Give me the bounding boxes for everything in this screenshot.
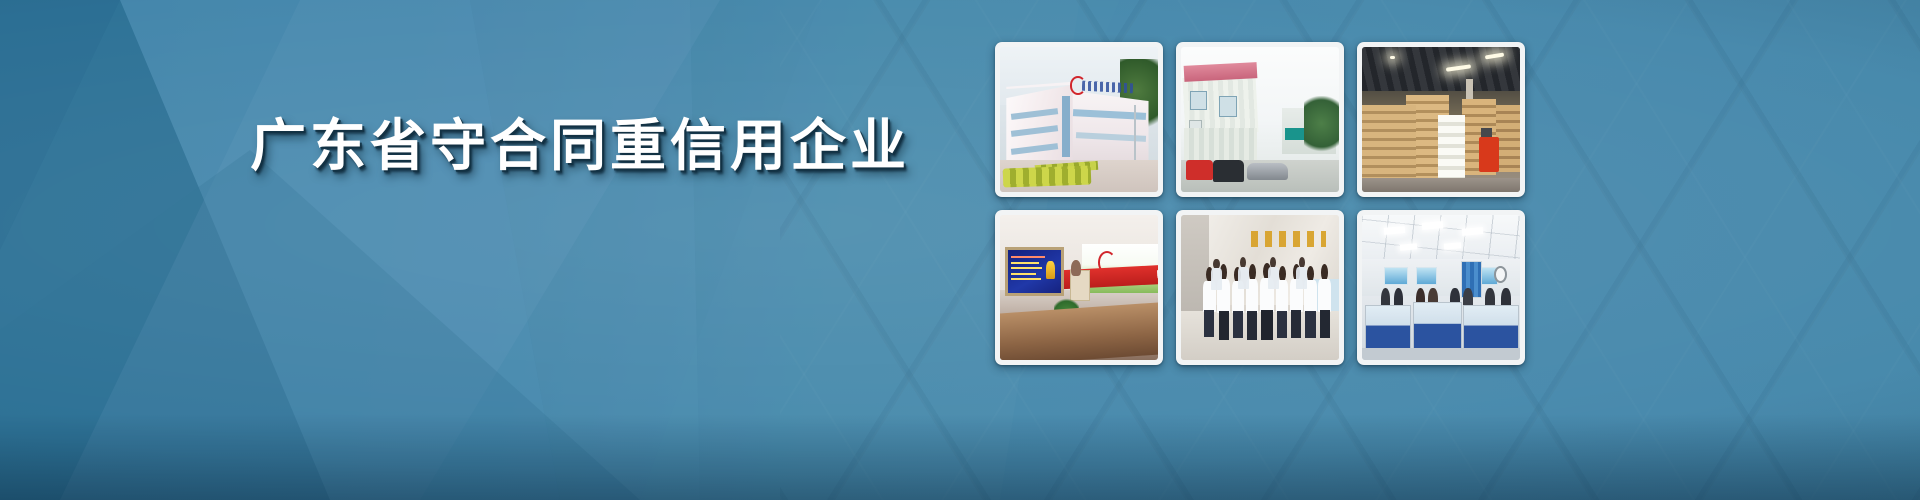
lobby-sign-characters [1251,231,1327,247]
wall-clock-icon [1494,266,1507,283]
background-reflection-strip [0,414,1920,500]
photo-team-group-image [1181,215,1339,360]
photo-office-workspace[interactable] [1357,210,1525,365]
photo-raw-material-warehouse-image [1362,47,1520,192]
photo-factory-exterior[interactable] [995,42,1163,197]
photo-company-meeting[interactable] [995,210,1163,365]
photo-warehouse-exterior-image [1181,47,1339,192]
photo-factory-exterior-image [1000,47,1158,192]
photo-office-workspace-image [1362,215,1520,360]
company-photo-gallery [995,42,1525,365]
photo-company-meeting-image [1000,215,1158,360]
forklift-icon [1479,137,1500,172]
banner-headline: 广东省守合同重信用企业 [250,118,910,174]
photo-warehouse-exterior[interactable] [1176,42,1344,197]
photo-raw-material-warehouse[interactable] [1357,42,1525,197]
trophy-icon [1046,261,1055,279]
company-banner: 广东省守合同重信用企业 [0,0,1920,500]
photo-team-group[interactable] [1176,210,1344,365]
